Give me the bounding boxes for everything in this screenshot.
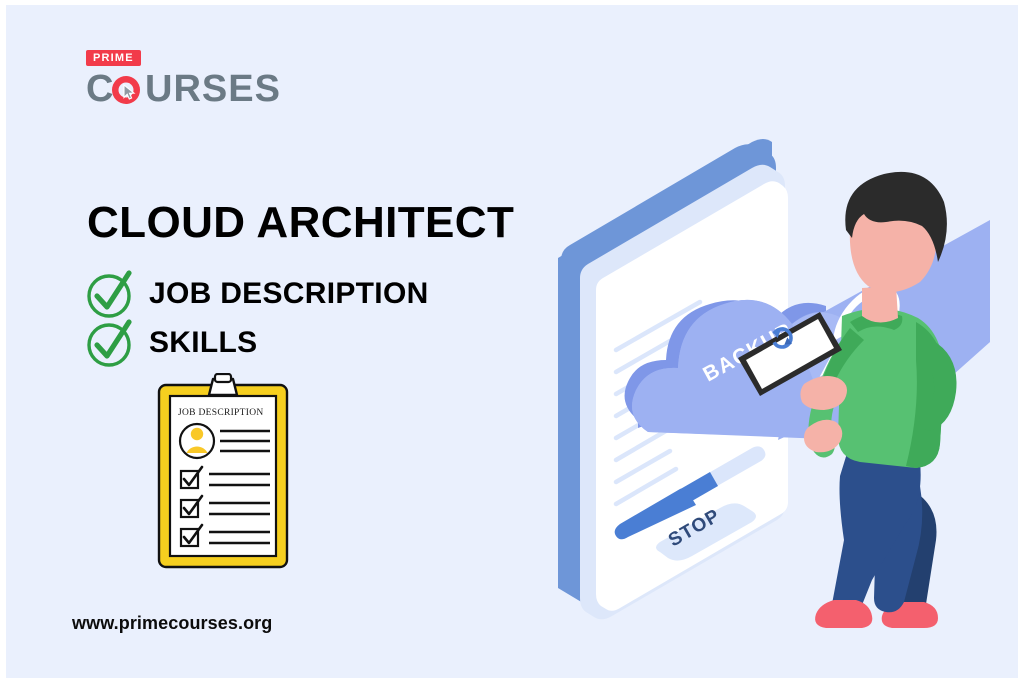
logo-prime-badge: PRIME (86, 50, 141, 66)
person-front-shoe (815, 600, 872, 628)
logo-courses-wordmark: COURSES (86, 69, 346, 109)
logo-courses-rest: URSES (145, 68, 281, 110)
bullet-item-job-description: JOB DESCRIPTION (84, 268, 429, 320)
cursor-arrow-icon (111, 75, 141, 105)
green-check-circle-icon (84, 268, 136, 320)
page-title: CLOUD ARCHITECT (87, 198, 514, 248)
bullet-label: SKILLS (149, 326, 257, 360)
footer-url[interactable]: www.primecourses.org (72, 613, 272, 634)
green-check-circle-icon (84, 317, 136, 369)
bullet-item-skills: SKILLS (84, 317, 257, 369)
brand-logo[interactable]: PRIME COURSES (86, 48, 346, 106)
poster-canvas: PRIME COURSES CLOUD ARCHITECT JOB DESCRI… (0, 0, 1024, 683)
clipboard-document-title: JOB DESCRIPTION (178, 408, 264, 418)
avatar-head (191, 428, 203, 440)
clipboard-illustration: JOB DESCRIPTION (157, 373, 289, 569)
cloud-backup-illustration: STOP BACKUP (520, 110, 1020, 630)
bullet-label: JOB DESCRIPTION (149, 277, 429, 311)
clipboard-clip-top (215, 374, 231, 382)
